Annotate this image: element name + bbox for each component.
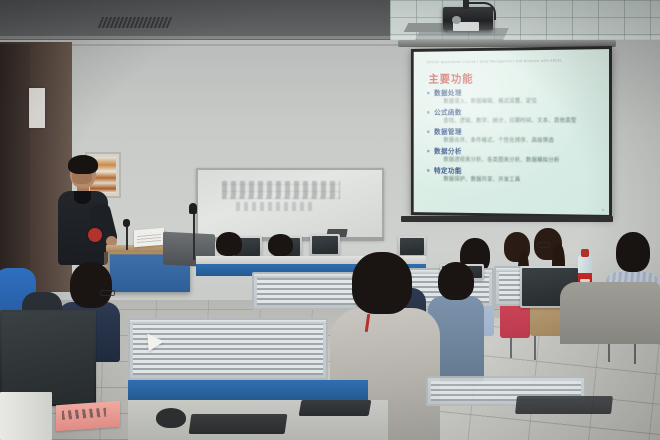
keyboard[interactable] bbox=[189, 414, 288, 434]
projector-lens-icon bbox=[452, 16, 461, 24]
screen-bottom-bar bbox=[401, 216, 613, 222]
podium-microphone-stand bbox=[126, 224, 128, 250]
bullet-icon: ▪ bbox=[427, 166, 431, 176]
monitor-screen bbox=[400, 238, 424, 255]
slide-section: ▪ 数据处理 数据录入、数据编辑、格式设置、定位 bbox=[434, 87, 601, 107]
mouse[interactable] bbox=[156, 408, 186, 428]
bullet-icon: ▪ bbox=[427, 108, 431, 118]
whiteboard-writing-second-line bbox=[236, 202, 312, 211]
podium-papers bbox=[134, 228, 164, 248]
person-head bbox=[70, 262, 112, 308]
student-head bbox=[216, 232, 242, 256]
slide-section: ▪ 特定功能 数据保护、数据共享、开发工具 bbox=[434, 166, 601, 186]
pc-tower bbox=[0, 392, 52, 440]
slide-section-detail: 数据透视表分析、各类图表分析、数据模拟分析 bbox=[434, 156, 601, 166]
person-head bbox=[352, 252, 412, 314]
presentation-slide: OFFICE Application Course | Data Managem… bbox=[414, 49, 609, 215]
left-wall-column bbox=[0, 44, 30, 274]
slide-section: ▪ 公式函数 查找、逻辑、数学、统计、日期时间、文本、其他类型 bbox=[434, 107, 601, 126]
monitor-screen bbox=[2, 312, 94, 404]
monitor-screen bbox=[312, 236, 338, 254]
person-head bbox=[438, 262, 474, 300]
keyboard[interactable] bbox=[299, 400, 372, 416]
podium-microphone-icon bbox=[123, 219, 130, 227]
slide-body: ▪ 数据处理 数据录入、数据编辑、格式设置、定位 ▪ 公式函数 查找、逻辑、数学… bbox=[434, 87, 601, 187]
wall-ceiling-seam bbox=[0, 36, 660, 39]
slide-section-heading-text: 特定功能 bbox=[434, 167, 462, 175]
person-head bbox=[616, 232, 650, 272]
monitor bbox=[398, 236, 426, 257]
slide-section: ▪ 数据分析 数据透视表分析、各类图表分析、数据模拟分析 bbox=[434, 147, 601, 166]
slide-title: 主要功能 bbox=[429, 71, 474, 87]
podium-paper-text bbox=[137, 232, 161, 243]
slide-section-detail: 数据保护、数据共享、开发工具 bbox=[434, 176, 601, 186]
presenter-hair bbox=[68, 155, 98, 174]
classroom-photo: OFFICE Application Course | Data Managem… bbox=[0, 0, 660, 440]
glasses-icon bbox=[100, 290, 115, 296]
monitor bbox=[310, 234, 340, 256]
projection-screen: OFFICE Application Course | Data Managem… bbox=[411, 46, 612, 218]
whiteboard bbox=[196, 168, 384, 240]
sticky-note-writing bbox=[62, 408, 106, 420]
projector-cable bbox=[468, 2, 496, 20]
slide-header-text: OFFICE Application Course | Data Managem… bbox=[427, 58, 601, 64]
desk-front-panel bbox=[128, 380, 368, 402]
microphone-stand bbox=[193, 208, 195, 260]
slide-page-number: 6 bbox=[602, 208, 604, 212]
bottle-cap bbox=[581, 249, 589, 257]
divider-rail bbox=[130, 320, 326, 324]
wall-notice-paper bbox=[29, 88, 45, 128]
glasses-icon bbox=[537, 242, 550, 248]
paper-cone bbox=[147, 332, 164, 351]
slide-section: ▪ 数据管理 数据合并、条件格式、个性化排序、高级筛选 bbox=[434, 127, 601, 146]
presenter-badge bbox=[88, 228, 102, 242]
slide-section-heading-text: 数据分析 bbox=[434, 148, 462, 156]
slide-section-detail: 数据合并、条件格式、个性化排序、高级筛选 bbox=[434, 137, 601, 146]
slide-section-heading-text: 数据管理 bbox=[434, 128, 462, 136]
microphone-icon bbox=[189, 203, 197, 214]
slide-section-heading: ▪ 数据管理 bbox=[434, 127, 601, 137]
whiteboard-writing bbox=[222, 181, 340, 199]
bullet-icon: ▪ bbox=[427, 127, 431, 137]
sticky-note bbox=[56, 401, 120, 431]
presenter-collar bbox=[74, 191, 91, 204]
student-head bbox=[268, 234, 293, 256]
person-torso bbox=[560, 282, 660, 344]
slide-section-heading: ▪ 公式函数 bbox=[434, 107, 601, 117]
slide-section-detail: 查找、逻辑、数学、统计、日期时间、文本、其他类型 bbox=[434, 117, 601, 126]
bullet-icon: ▪ bbox=[427, 88, 431, 98]
ceiling-vent bbox=[98, 17, 172, 28]
slide-section-heading-text: 公式函数 bbox=[434, 109, 462, 117]
bullet-icon: ▪ bbox=[427, 147, 431, 157]
slide-section-heading-text: 数据处理 bbox=[434, 89, 462, 97]
keyboard[interactable] bbox=[515, 396, 613, 414]
slide-section-detail: 数据录入、数据编辑、格式设置、定位 bbox=[434, 97, 601, 107]
